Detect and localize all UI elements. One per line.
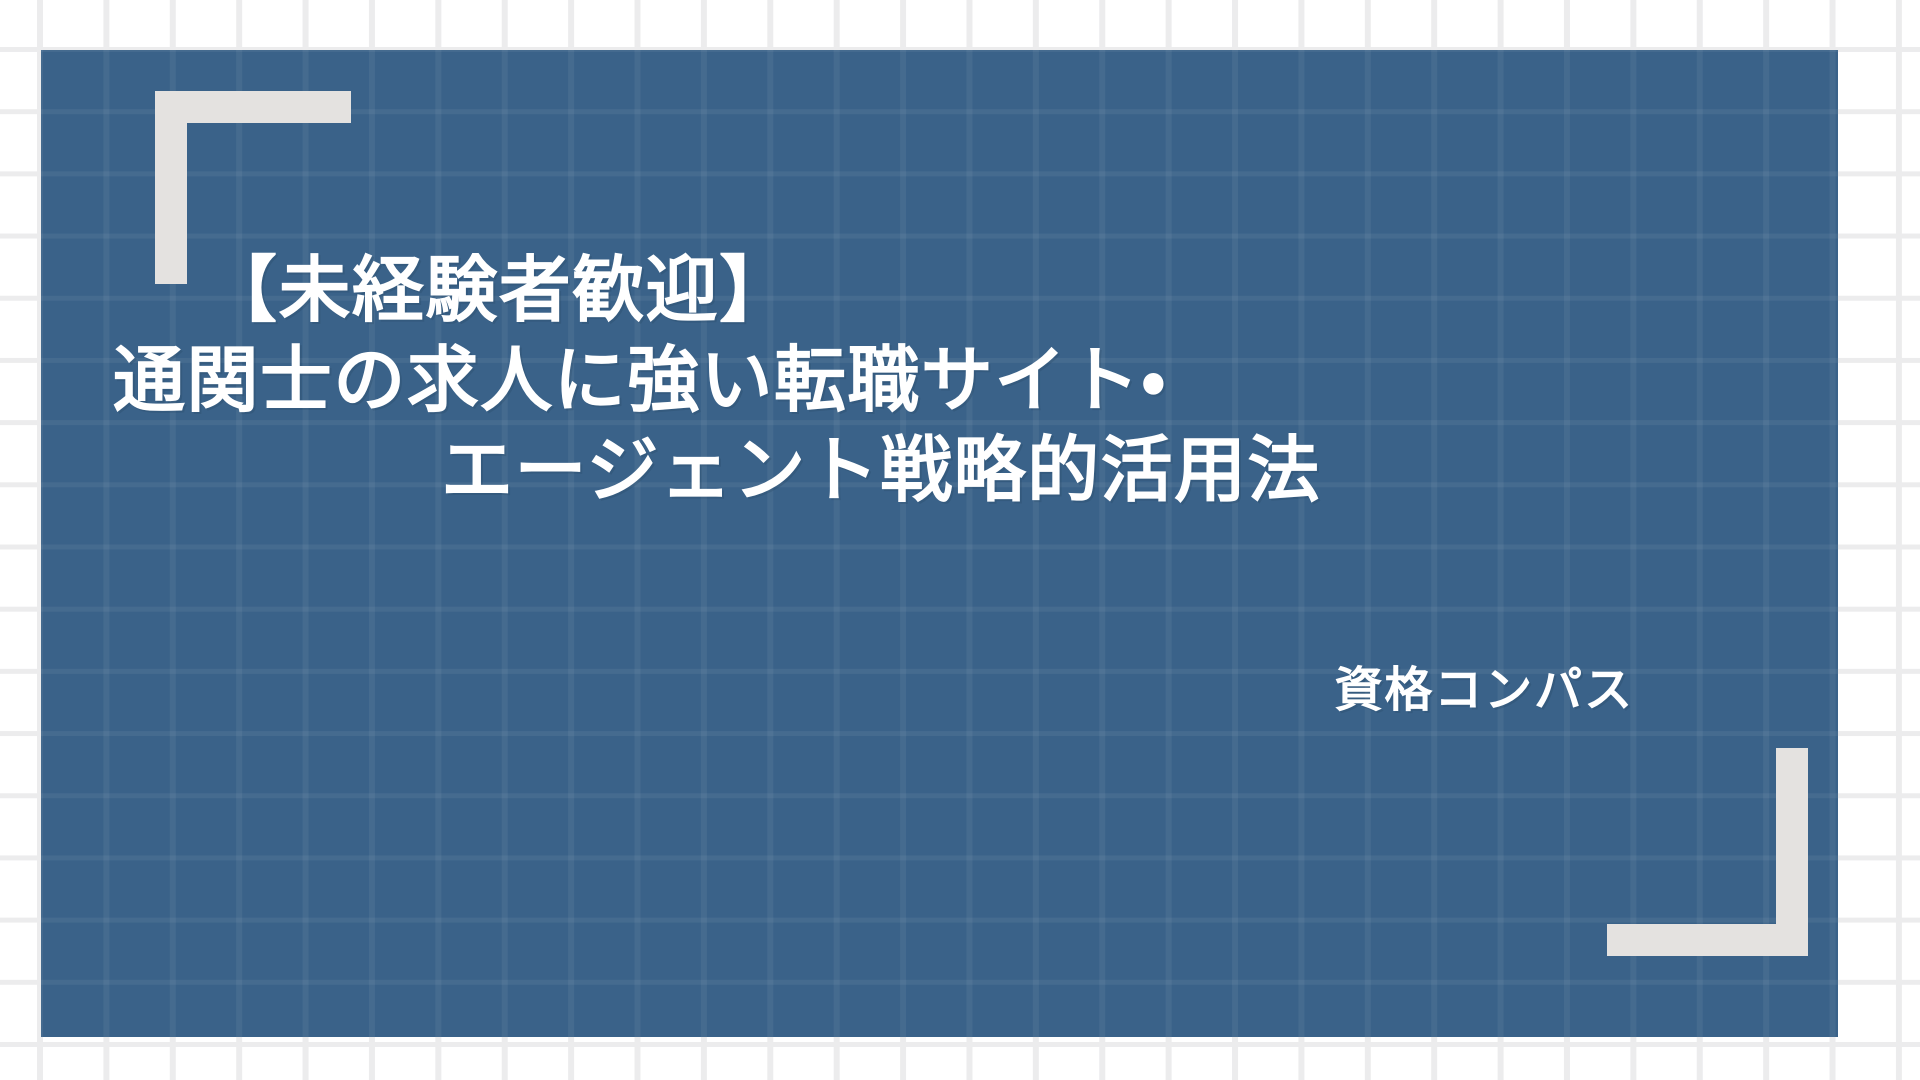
banner-canvas: 【未経験者歓迎】 通関士の求人に強い転職サイト・ エージェント戦略的活用法 資格… bbox=[0, 0, 1920, 1080]
brand-name: 資格コンパス bbox=[1334, 663, 1634, 719]
headline-line-1: 【未経験者歓迎】 bbox=[41, 246, 1838, 336]
bracket-bottom-right-vertical-arm bbox=[1776, 748, 1808, 956]
headline-line-3: エージェント戦略的活用法 bbox=[41, 426, 1838, 516]
headline-block: 【未経験者歓迎】 通関士の求人に強い転職サイト・ エージェント戦略的活用法 bbox=[41, 246, 1838, 516]
blue-card-panel: 【未経験者歓迎】 通関士の求人に強い転職サイト・ エージェント戦略的活用法 資格… bbox=[41, 50, 1838, 1037]
corner-bracket-bottom-right-icon bbox=[1607, 748, 1808, 956]
headline-line-2: 通関士の求人に強い転職サイト・ bbox=[41, 336, 1838, 426]
